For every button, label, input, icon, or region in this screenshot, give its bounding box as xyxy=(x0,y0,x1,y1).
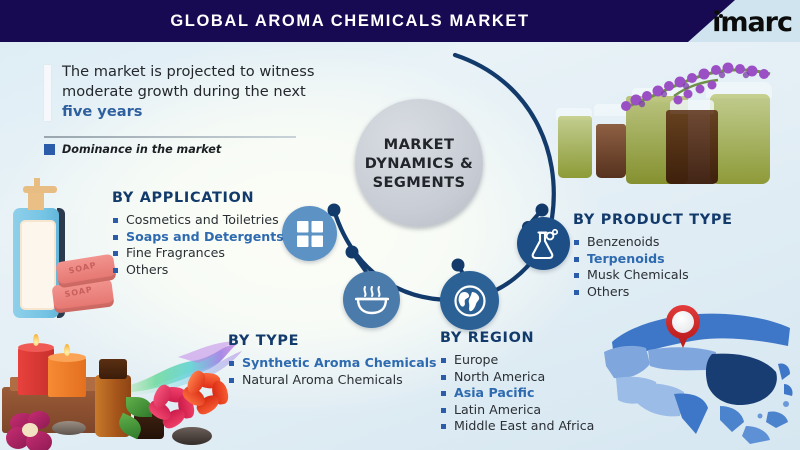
section-list: Synthetic Aroma Chemicals Natural Aroma … xyxy=(228,355,437,388)
jar-amber-small xyxy=(596,124,626,178)
grid-squares-icon xyxy=(296,220,324,248)
node-product-type[interactable] xyxy=(517,217,570,270)
logo-dot-icon xyxy=(719,14,723,18)
section-list: Europe North America Asia Pacific Latin … xyxy=(440,352,594,435)
legend-label: Dominance in the market xyxy=(62,143,221,156)
frangipani-flower-red xyxy=(182,373,234,419)
lavender-sprig xyxy=(616,56,776,116)
section-heading: BY TYPE xyxy=(228,333,437,349)
intro-highlight: five years xyxy=(62,103,142,120)
oil-jars-illustration xyxy=(540,52,800,190)
header-bar: GLOBAL AROMA CHEMICALS MARKET imarc xyxy=(0,0,800,42)
oil-bottle-cap xyxy=(99,359,127,379)
section-list: Benzenoids Terpenoids Musk Chemicals Oth… xyxy=(573,234,733,300)
spa-illustration xyxy=(0,325,250,450)
node-region[interactable] xyxy=(440,271,499,330)
wire-joint xyxy=(536,204,549,217)
soap-bar-text: SOAP xyxy=(68,260,98,275)
hub-line-1: MARKET xyxy=(384,136,455,153)
list-item: Asia Pacific xyxy=(440,385,594,402)
intro-text: The market is projected to witness moder… xyxy=(62,62,344,122)
globe-icon xyxy=(453,284,487,318)
list-item: Benzenoids xyxy=(573,234,733,251)
candle-orange xyxy=(48,357,86,397)
dispenser-stem xyxy=(34,178,40,188)
intro-divider xyxy=(44,136,296,138)
list-item: Others xyxy=(112,262,284,279)
list-item: North America xyxy=(440,369,594,386)
section-list: Cosmetics and Toiletries Soaps and Deter… xyxy=(112,212,284,278)
intro-line-2: moderate growth during the next xyxy=(62,83,306,100)
section-heading: BY PRODUCT TYPE xyxy=(573,212,733,228)
section-by-type: BY TYPE Synthetic Aroma Chemicals Natura… xyxy=(228,333,437,388)
node-type[interactable] xyxy=(343,271,400,328)
list-item: Middle East and Africa xyxy=(440,418,594,435)
wire-joint xyxy=(346,246,359,259)
location-pin-icon xyxy=(666,305,700,349)
legend: Dominance in the market xyxy=(44,143,221,156)
flask-icon xyxy=(530,229,558,259)
list-item: Natural Aroma Chemicals xyxy=(228,372,437,389)
list-item: Europe xyxy=(440,352,594,369)
logo-text: imarc xyxy=(712,7,792,38)
list-item: Musk Chemicals xyxy=(573,267,733,284)
section-heading: BY APPLICATION xyxy=(112,190,284,206)
list-item: Fine Fragrances xyxy=(112,245,284,262)
wire-joint xyxy=(452,259,465,272)
list-item: Soaps and Detergents xyxy=(112,229,284,246)
candle-flame xyxy=(33,334,39,346)
candle-flame xyxy=(64,344,70,356)
hub-line-2: DYNAMICS & xyxy=(365,155,473,172)
spa-stone xyxy=(172,427,212,445)
list-item: Terpenoids xyxy=(573,251,733,268)
infographic-canvas: GLOBAL AROMA CHEMICALS MARKET imarc The … xyxy=(0,0,800,450)
spa-stone xyxy=(52,421,86,435)
intro-accent-bar xyxy=(44,65,51,121)
steaming-bowl-icon xyxy=(355,284,389,316)
section-by-region: BY REGION Europe North America Asia Paci… xyxy=(440,330,594,435)
list-item: Latin America xyxy=(440,402,594,419)
page-title: GLOBAL AROMA CHEMICALS MARKET xyxy=(0,0,700,42)
imarc-logo: imarc xyxy=(712,2,792,42)
hub-label: MARKET DYNAMICS & SEGMENTS xyxy=(365,135,473,192)
asia-map-svg xyxy=(600,300,800,450)
intro-block: The market is projected to witness moder… xyxy=(44,62,344,122)
center-hub: MARKET DYNAMICS & SEGMENTS xyxy=(355,99,483,227)
node-application[interactable] xyxy=(282,206,337,261)
dispenser-pump xyxy=(23,186,57,193)
asia-map-illustration xyxy=(600,300,800,450)
jar-dark-center xyxy=(666,110,718,184)
dispenser-label xyxy=(20,220,56,310)
list-item: Cosmetics and Toiletries xyxy=(112,212,284,229)
section-by-application: BY APPLICATION Cosmetics and Toiletries … xyxy=(112,190,284,278)
hub-line-3: SEGMENTS xyxy=(373,174,466,191)
section-by-product-type: BY PRODUCT TYPE Benzenoids Terpenoids Mu… xyxy=(573,212,733,300)
intro-line-1: The market is projected to witness xyxy=(62,63,314,80)
soap-dispenser-illustration: SOAP SOAP xyxy=(5,178,115,328)
jar-olive-small xyxy=(558,116,592,178)
list-item: Others xyxy=(573,284,733,301)
dispenser-neck xyxy=(28,192,44,210)
soap-bar-text: SOAP xyxy=(64,285,94,299)
list-item: Synthetic Aroma Chemicals xyxy=(228,355,437,372)
section-heading: BY REGION xyxy=(440,330,594,346)
legend-swatch-icon xyxy=(44,144,55,155)
